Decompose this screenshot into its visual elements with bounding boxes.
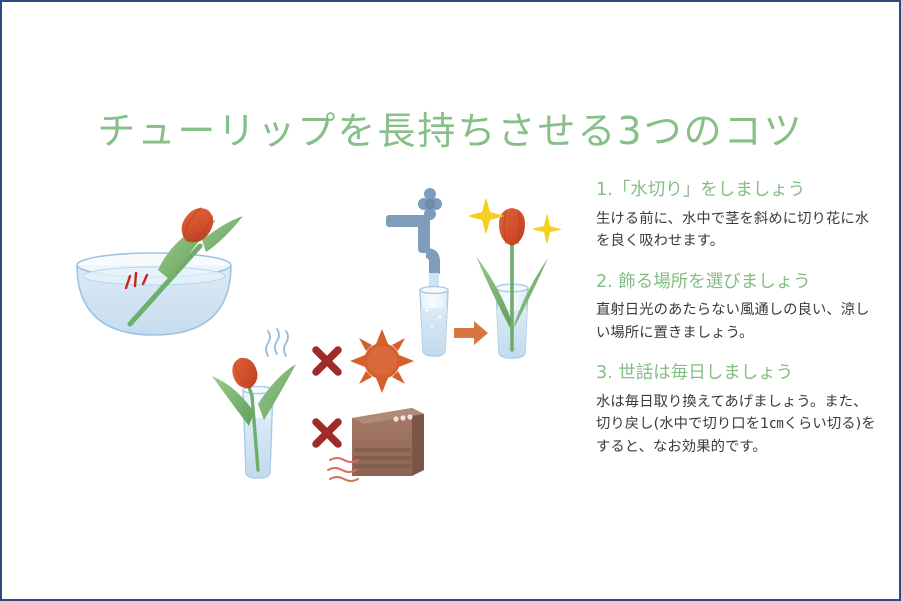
illus-change-water xyxy=(386,188,562,358)
page-title: チューリップを長持ちさせる3つのコツ xyxy=(0,100,901,155)
illus-avoid-sun-heater xyxy=(212,329,424,481)
tip-body-1: 生ける前に、水中で茎を斜めに切り花に水を良く吸わせます。 xyxy=(596,208,876,253)
infographic-page: チューリップを長持ちさせる3つのコツ xyxy=(0,0,901,601)
x-mark-heater-icon xyxy=(316,422,338,444)
heater-icon xyxy=(328,408,424,481)
illustration-area xyxy=(30,160,590,520)
tip-heading-1: 1.「水切り」をしましょう xyxy=(596,178,876,203)
tips-list: 1.「水切り」をしましょう 生ける前に、水中で茎を斜めに切り花に水を良く吸わせま… xyxy=(596,178,876,476)
glass-cup-water xyxy=(421,308,447,355)
tip-body-3: 水は毎日取り換えてあげましょう。また、切り戻し(水中で切り口を1㎝くらい切る)を… xyxy=(596,391,876,459)
heat-waves-icon xyxy=(266,329,288,356)
illustration-graphics xyxy=(30,160,590,520)
tip-item-1: 1.「水切り」をしましょう 生ける前に、水中で茎を斜めに切り花に水を良く吸わせま… xyxy=(596,178,876,253)
tip-heading-2: 2. 飾る場所を選びましょう xyxy=(596,270,876,295)
faucet-icon xyxy=(386,188,442,274)
sparkle-icon-left xyxy=(468,198,504,234)
x-mark-sun-icon xyxy=(316,350,338,372)
sparkle-icon-right xyxy=(532,214,562,244)
tip-item-3: 3. 世話は毎日しましょう 水は毎日取り換えてあげましょう。また、切り戻し(水中… xyxy=(596,361,876,458)
arrow-icon xyxy=(454,321,488,345)
sun-icon xyxy=(350,329,414,393)
tulip-flower-3 xyxy=(499,208,525,246)
tip-item-2: 2. 飾る場所を選びましょう 直射日光のあたらない風通しの良い、涼しい場所に置き… xyxy=(596,270,876,345)
tip-body-2: 直射日光のあたらない風通しの良い、涼しい場所に置きましょう。 xyxy=(596,299,876,344)
tip-heading-3: 3. 世話は毎日しましょう xyxy=(596,361,876,386)
glass-cup-rim xyxy=(420,287,448,294)
illus-cut-stem-underwater xyxy=(77,202,243,335)
water-surface xyxy=(83,267,225,285)
